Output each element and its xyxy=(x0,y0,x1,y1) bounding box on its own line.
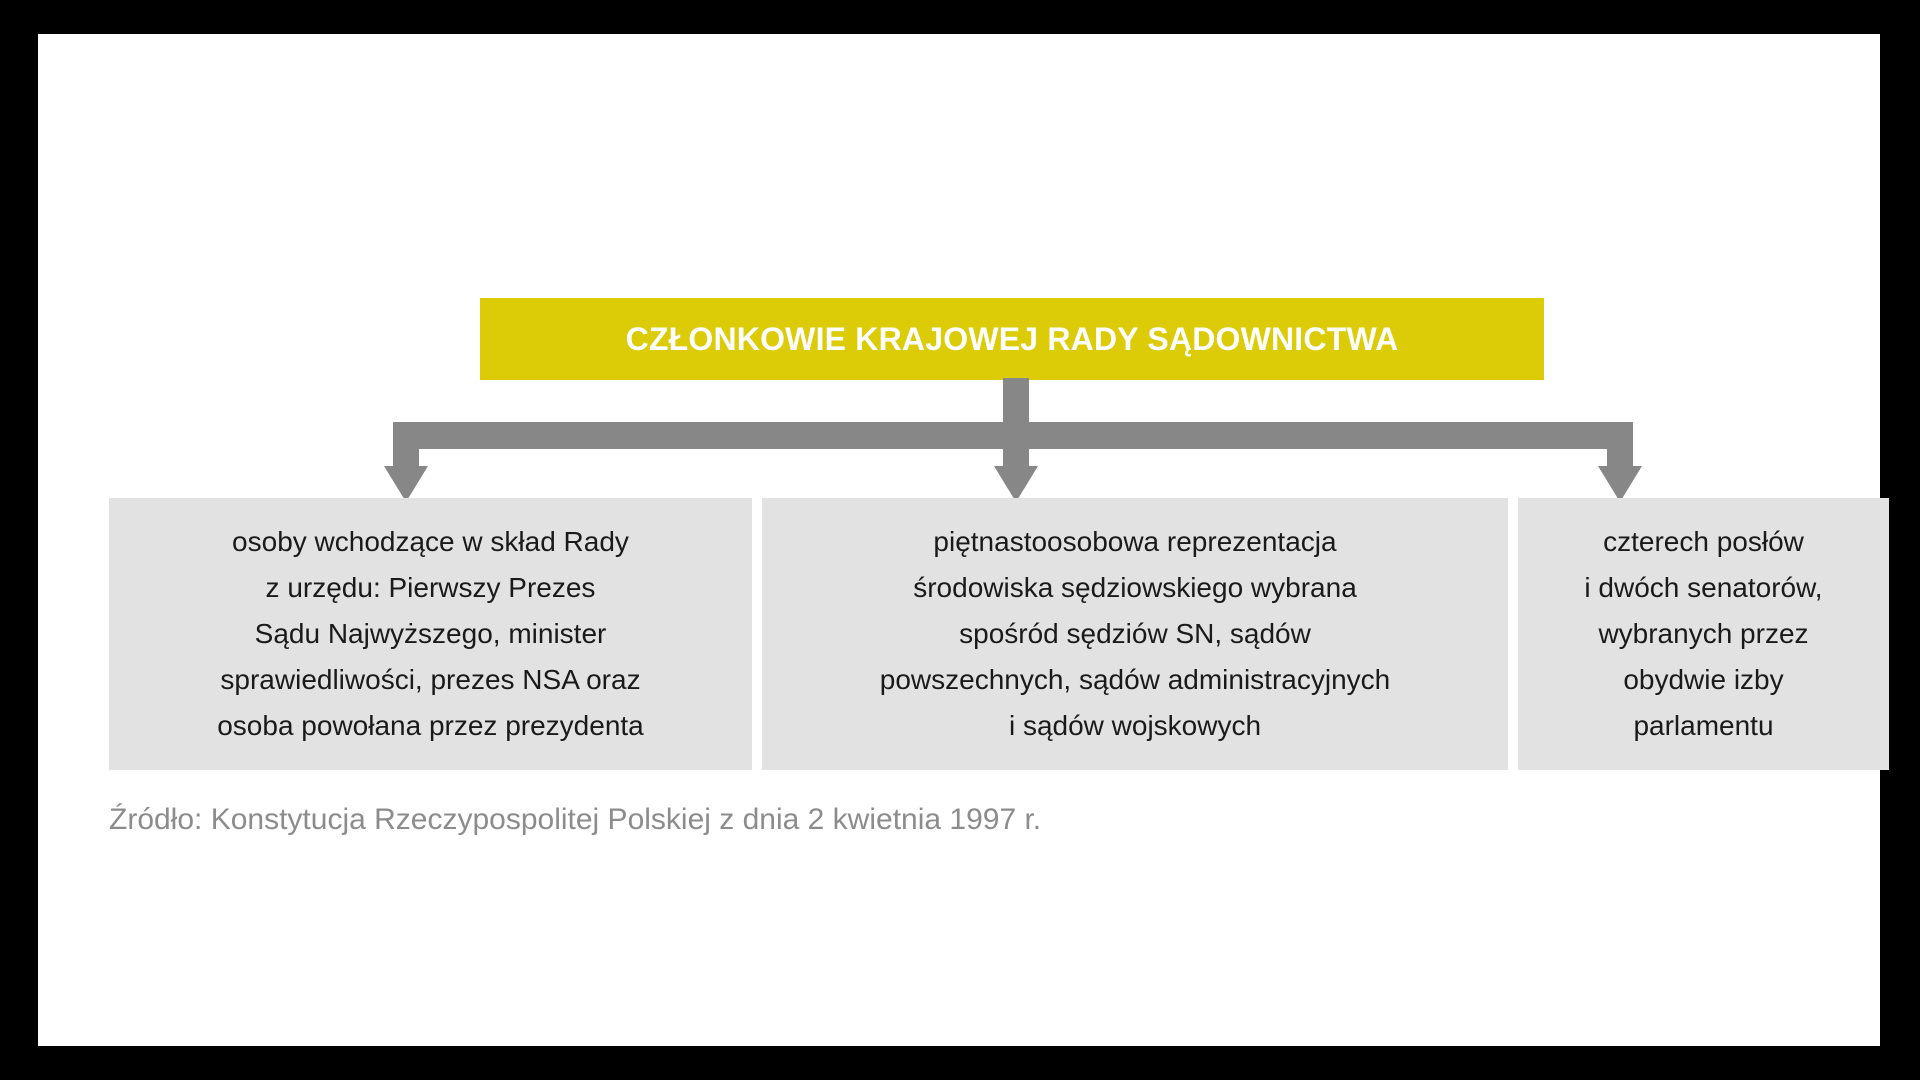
diagram-box-text: czterech posłów i dwóch senatorów, wybra… xyxy=(1584,519,1822,749)
page-title: CZŁONKOWIE KRAJOWEJ RADY SĄDOWNICTWA xyxy=(626,321,1399,358)
diagram-title-bar: CZŁONKOWIE KRAJOWEJ RADY SĄDOWNICTWA xyxy=(480,298,1544,380)
source-citation: Źródło: Konstytucja Rzeczypospolitej Pol… xyxy=(109,796,1709,844)
diagram-boxes-row: osoby wchodzące w skład Rady z urzędu: P… xyxy=(109,498,1889,770)
connector-stem xyxy=(1003,378,1029,424)
slide-panel: CZŁONKOWIE KRAJOWEJ RADY SĄDOWNICTWA xyxy=(38,34,1880,1046)
diagram-box-judges: piętnastoosobowa reprezentacja środowisk… xyxy=(762,498,1508,770)
slide-root: CZŁONKOWIE KRAJOWEJ RADY SĄDOWNICTWA xyxy=(0,0,1920,1080)
diagram-box-text: osoby wchodzące w skład Rady z urzędu: P… xyxy=(217,519,644,749)
source-citation-text: Źródło: Konstytucja Rzeczypospolitej Pol… xyxy=(109,803,1041,837)
diagram-box-ex-officio: osoby wchodzące w skład Rady z urzędu: P… xyxy=(109,498,752,770)
connector-arrows xyxy=(368,378,1658,508)
diagram-box-parliament: czterech posłów i dwóch senatorów, wybra… xyxy=(1518,498,1889,770)
diagram-box-text: piętnastoosobowa reprezentacja środowisk… xyxy=(880,519,1390,749)
